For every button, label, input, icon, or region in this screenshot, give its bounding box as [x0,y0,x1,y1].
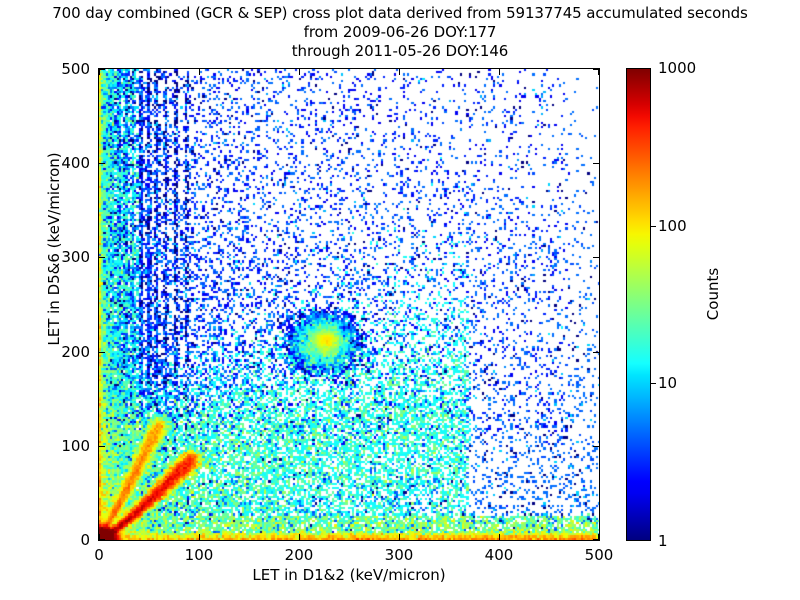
y-tick-200 [593,352,599,353]
plot-area [98,68,600,541]
colorbar-label-1: 1 [658,532,668,550]
y-tick-0 [593,539,599,540]
y-tick-500 [593,69,599,70]
y-tick-0 [99,539,105,540]
y-tick-label-500: 500 [10,60,90,78]
figure-title-line-1: 700 day combined (GCR & SEP) cross plot … [0,4,800,23]
x-tick-300 [399,69,400,75]
x-tick-label-100: 100 [159,546,239,564]
colorbar-title: Counts [704,214,722,374]
y-tick-400 [593,163,599,164]
figure-title: 700 day combined (GCR & SEP) cross plot … [0,4,800,61]
x-tick-300 [399,534,400,540]
colorbar-tick-10 [651,383,656,384]
x-tick-label-400: 400 [459,546,539,564]
y-tick-200 [99,352,105,353]
x-tick-200 [299,534,300,540]
colorbar-label-100: 100 [658,217,687,235]
x-tick-200 [299,69,300,75]
x-tick-100 [199,69,200,75]
colorbar-label-1000: 1000 [658,59,696,77]
y-tick-300 [593,257,599,258]
x-tick-400 [499,69,500,75]
colorbar-gradient [627,69,650,540]
x-tick-100 [199,534,200,540]
figure-canvas: 700 day combined (GCR & SEP) cross plot … [0,0,800,600]
x-tick-label-200: 200 [259,546,339,564]
colorbar [626,68,651,541]
x-axis-title: LET in D1&2 (keV/micron) [98,566,600,584]
x-tick-label-300: 300 [359,546,439,564]
colorbar-tick-100 [651,226,656,227]
x-tick-400 [499,534,500,540]
y-tick-500 [99,69,105,70]
y-axis-title: LET in D5&6 (keV/micron) [45,99,63,399]
y-tick-300 [99,257,105,258]
scatter-heatmap [99,69,599,540]
figure-title-line-2: from 2009-06-26 DOY:177 [0,23,800,42]
y-tick-100 [99,446,105,447]
y-tick-400 [99,163,105,164]
colorbar-label-10: 10 [658,374,677,392]
x-tick-label-500: 500 [559,546,639,564]
y-tick-100 [593,446,599,447]
y-tick-label-100: 100 [10,437,90,455]
y-tick-label-0: 0 [10,531,90,549]
